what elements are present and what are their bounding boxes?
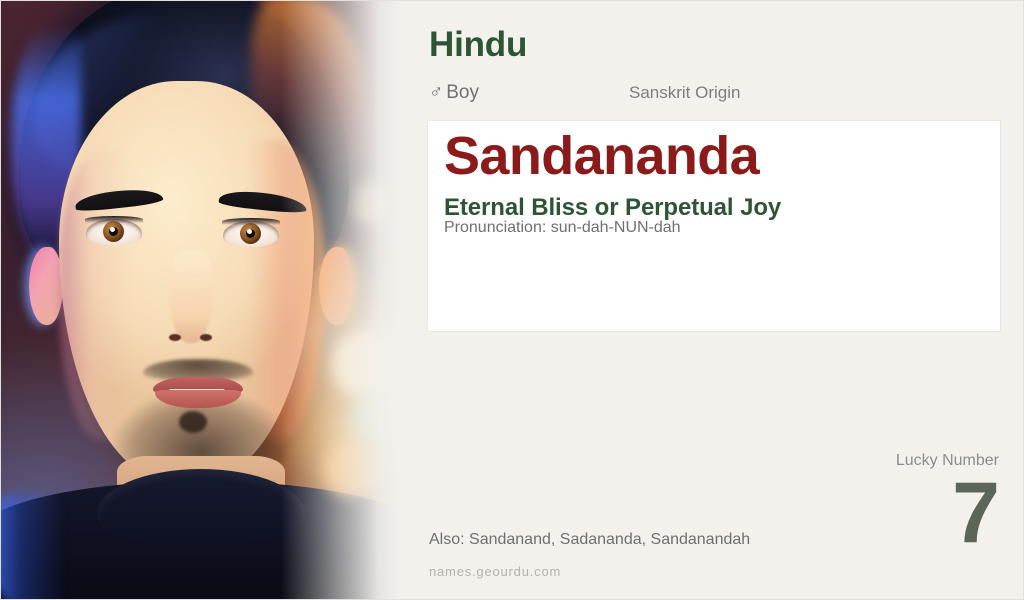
name-info-card: Hindu ♂Boy Sanskrit Origin Sandananda Et…	[0, 0, 1024, 600]
nose-shape	[169, 251, 213, 343]
eye-glint-left	[110, 227, 115, 232]
portrait-edge-fade	[281, 1, 401, 600]
iris-right	[240, 223, 261, 244]
gender-label-group: ♂Boy	[429, 82, 479, 104]
sweater-rim-light	[1, 493, 65, 600]
religion-title: Hindu	[429, 25, 527, 65]
eye-glint-right	[247, 229, 252, 234]
male-gender-icon: ♂	[429, 82, 443, 103]
name-meaning: Eternal Bliss or Perpetual Joy	[444, 194, 781, 222]
alternate-spellings: Also: Sandanand, Sadananda, Sandanandah	[429, 531, 750, 549]
portrait-image	[1, 1, 401, 600]
baby-name: Sandananda	[444, 127, 759, 185]
eyelash-left	[85, 216, 143, 223]
soul-patch	[179, 411, 207, 433]
origin-label: Sanskrit Origin	[629, 83, 740, 103]
gender-label: Boy	[446, 82, 479, 103]
iris-left	[103, 221, 124, 242]
meta-row: ♂Boy Sanskrit Origin	[429, 82, 989, 108]
ear-left	[29, 247, 63, 325]
lucky-number-block: Lucky Number 7	[799, 453, 999, 554]
nostril-right	[200, 334, 212, 341]
content-panel: Hindu ♂Boy Sanskrit Origin Sandananda Et…	[401, 1, 1024, 600]
site-url: names.geourdu.com	[429, 564, 561, 579]
name-pronunciation: Pronunciation: sun-dah-NUN-dah	[444, 219, 681, 237]
eyelash-right	[222, 218, 280, 225]
lucky-number-value: 7	[799, 473, 999, 554]
nostril-left	[169, 334, 181, 341]
name-detail-card: Sandananda Eternal Bliss or Perpetual Jo…	[427, 120, 1001, 332]
